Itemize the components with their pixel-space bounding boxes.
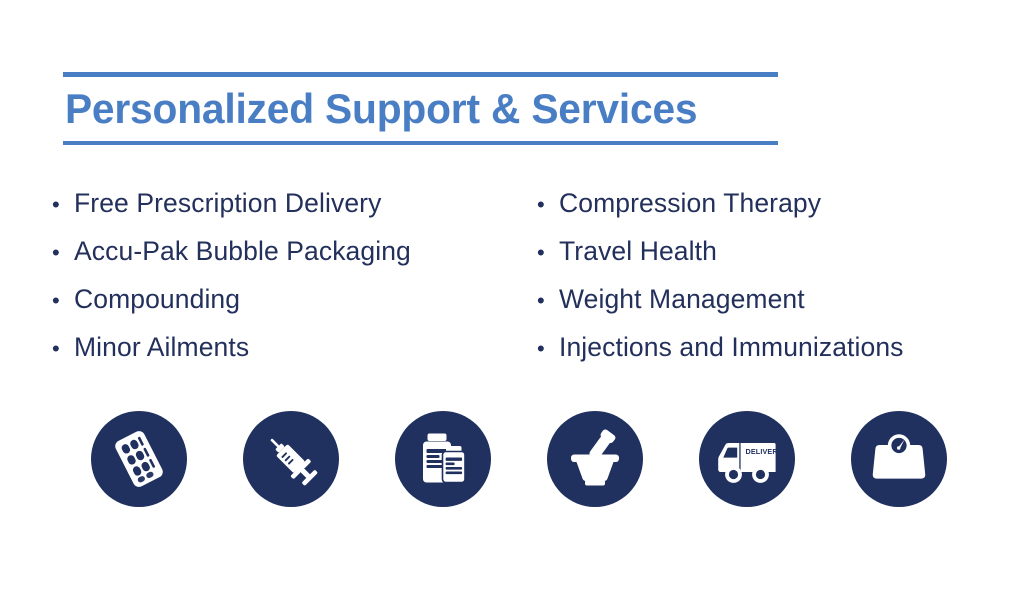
list-item: • Compounding: [52, 276, 537, 324]
list-item-label: Compression Therapy: [559, 180, 821, 226]
list-item-label: Minor Ailments: [74, 324, 249, 370]
icon-badge-delivery-van: DELIVERY: [699, 411, 795, 507]
icon-badge-blister-pack: [91, 411, 187, 507]
van-delivery-label: DELIVERY: [746, 447, 781, 456]
title-rule-bottom: [63, 141, 778, 145]
list-item-label: Injections and Immunizations: [559, 324, 904, 370]
syringe-icon: [260, 428, 322, 490]
bullet-icon: •: [52, 182, 74, 228]
pill-bottles-icon: [413, 429, 473, 489]
bullet-icon: •: [537, 326, 559, 372]
bullet-icon: •: [537, 182, 559, 228]
service-icon-row: DELIVERY: [91, 411, 955, 507]
list-item-label: Free Prescription Delivery: [74, 180, 381, 226]
delivery-van-icon: DELIVERY: [714, 426, 780, 492]
list-item-label: Travel Health: [559, 228, 717, 274]
bullet-icon: •: [52, 326, 74, 372]
list-item-label: Compounding: [74, 276, 240, 322]
list-item: • Free Prescription Delivery: [52, 180, 537, 228]
services-lists: • Free Prescription Delivery • Accu-Pak …: [52, 180, 1012, 372]
list-item: • Travel Health: [537, 228, 1012, 276]
list-item: • Injections and Immunizations: [537, 324, 1012, 372]
icon-badge-weight-scale: [851, 411, 947, 507]
list-item-label: Weight Management: [559, 276, 805, 322]
blister-pack-icon: [108, 428, 170, 490]
list-item: • Accu-Pak Bubble Packaging: [52, 228, 537, 276]
icon-badge-pill-bottles: [395, 411, 491, 507]
list-item: • Minor Ailments: [52, 324, 537, 372]
list-item-label: Accu-Pak Bubble Packaging: [74, 228, 411, 274]
page-title-block: Personalized Support & Services: [63, 72, 778, 145]
list-item: • Compression Therapy: [537, 180, 1012, 228]
page-title: Personalized Support & Services: [63, 77, 757, 141]
mortar-and-pestle-icon: [564, 428, 626, 490]
bullet-icon: •: [537, 230, 559, 276]
services-left-column: • Free Prescription Delivery • Accu-Pak …: [52, 180, 537, 372]
bullet-icon: •: [52, 230, 74, 276]
icon-badge-syringe: [243, 411, 339, 507]
weight-scale-icon: [869, 429, 929, 489]
bullet-icon: •: [537, 278, 559, 324]
bullet-icon: •: [52, 278, 74, 324]
icon-badge-mortar-pestle: [547, 411, 643, 507]
list-item: • Weight Management: [537, 276, 1012, 324]
services-right-column: • Compression Therapy • Travel Health • …: [537, 180, 1012, 372]
